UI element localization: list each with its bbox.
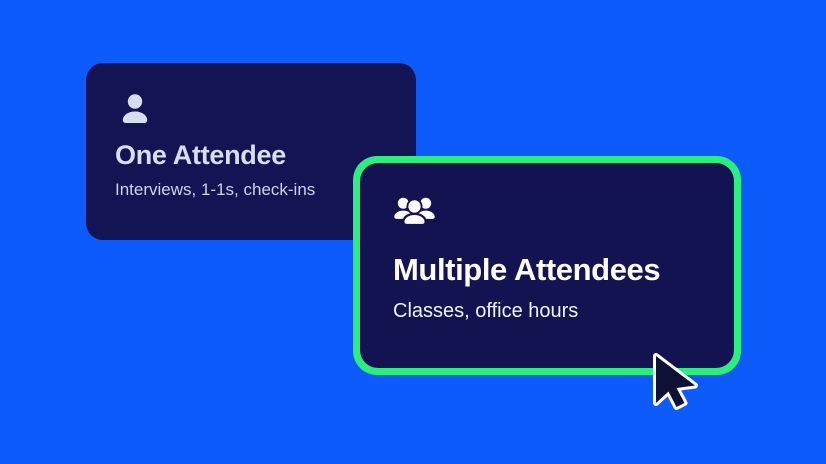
group-people-icon — [393, 192, 436, 235]
card-inner-surface: Multiple Attendees Classes, office hours — [360, 163, 734, 368]
option-selection-canvas: One Attendee Interviews, 1-1s, check-ins — [0, 0, 826, 464]
card-subtitle: Classes, office hours — [393, 299, 734, 323]
single-person-icon — [115, 89, 155, 129]
card-title: Multiple Attendees — [393, 252, 734, 288]
option-card-multiple-attendees[interactable]: Multiple Attendees Classes, office hours — [353, 156, 741, 375]
